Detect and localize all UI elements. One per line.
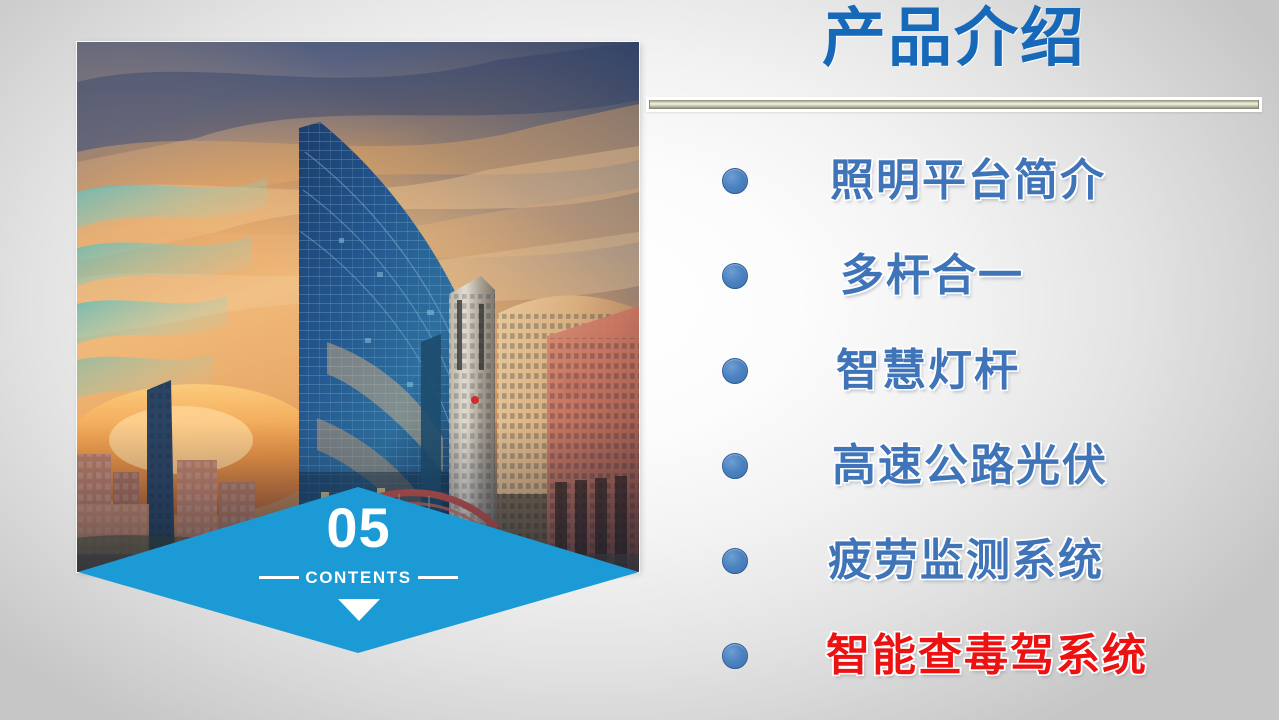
agenda-item-4[interactable]: 高速公路光伏 [700,418,1260,513]
bullet-dot-icon [722,453,748,479]
bullet-dot-icon [722,263,748,289]
agenda-list: 照明平台简介 多杆合一 智慧灯杆 高速公路光伏 疲劳监测系统 智能查毒驾系统 [700,133,1260,703]
bullet-dot-icon [722,168,748,194]
cityscape-photo [77,42,639,572]
agenda-item-label: 照明平台简介 [830,159,1260,203]
agenda-item-3[interactable]: 智慧灯杆 [700,323,1260,418]
rule-left [259,576,299,579]
agenda-item-5[interactable]: 疲劳监测系统 [700,513,1260,608]
presentation-slide: 05 CONTENTS 产品介绍 照明平台简介 多杆合一 智慧灯杆 高速公路光伏 [0,0,1279,720]
agenda-item-2[interactable]: 多杆合一 [700,228,1260,323]
agenda-item-6[interactable]: 智能查毒驾系统 [700,608,1260,703]
agenda-item-label: 智慧灯杆 [836,349,1260,393]
agenda-item-label: 智能查毒驾系统 [826,634,1260,678]
title-divider [646,97,1262,112]
caret-down-icon [78,599,639,621]
agenda-item-label: 高速公路光伏 [832,444,1260,488]
bullet-dot-icon [722,358,748,384]
bullet-dot-icon [722,548,748,574]
bullet-dot-icon [722,643,748,669]
agenda-item-1[interactable]: 照明平台简介 [700,133,1260,228]
cityscape-illustration [77,42,639,572]
page-title: 产品介绍 [646,2,1262,78]
title-divider-bar [649,100,1259,109]
agenda-item-label: 多杆合一 [840,254,1260,298]
agenda-item-label: 疲劳监测系统 [828,539,1260,583]
rule-right [418,576,458,579]
